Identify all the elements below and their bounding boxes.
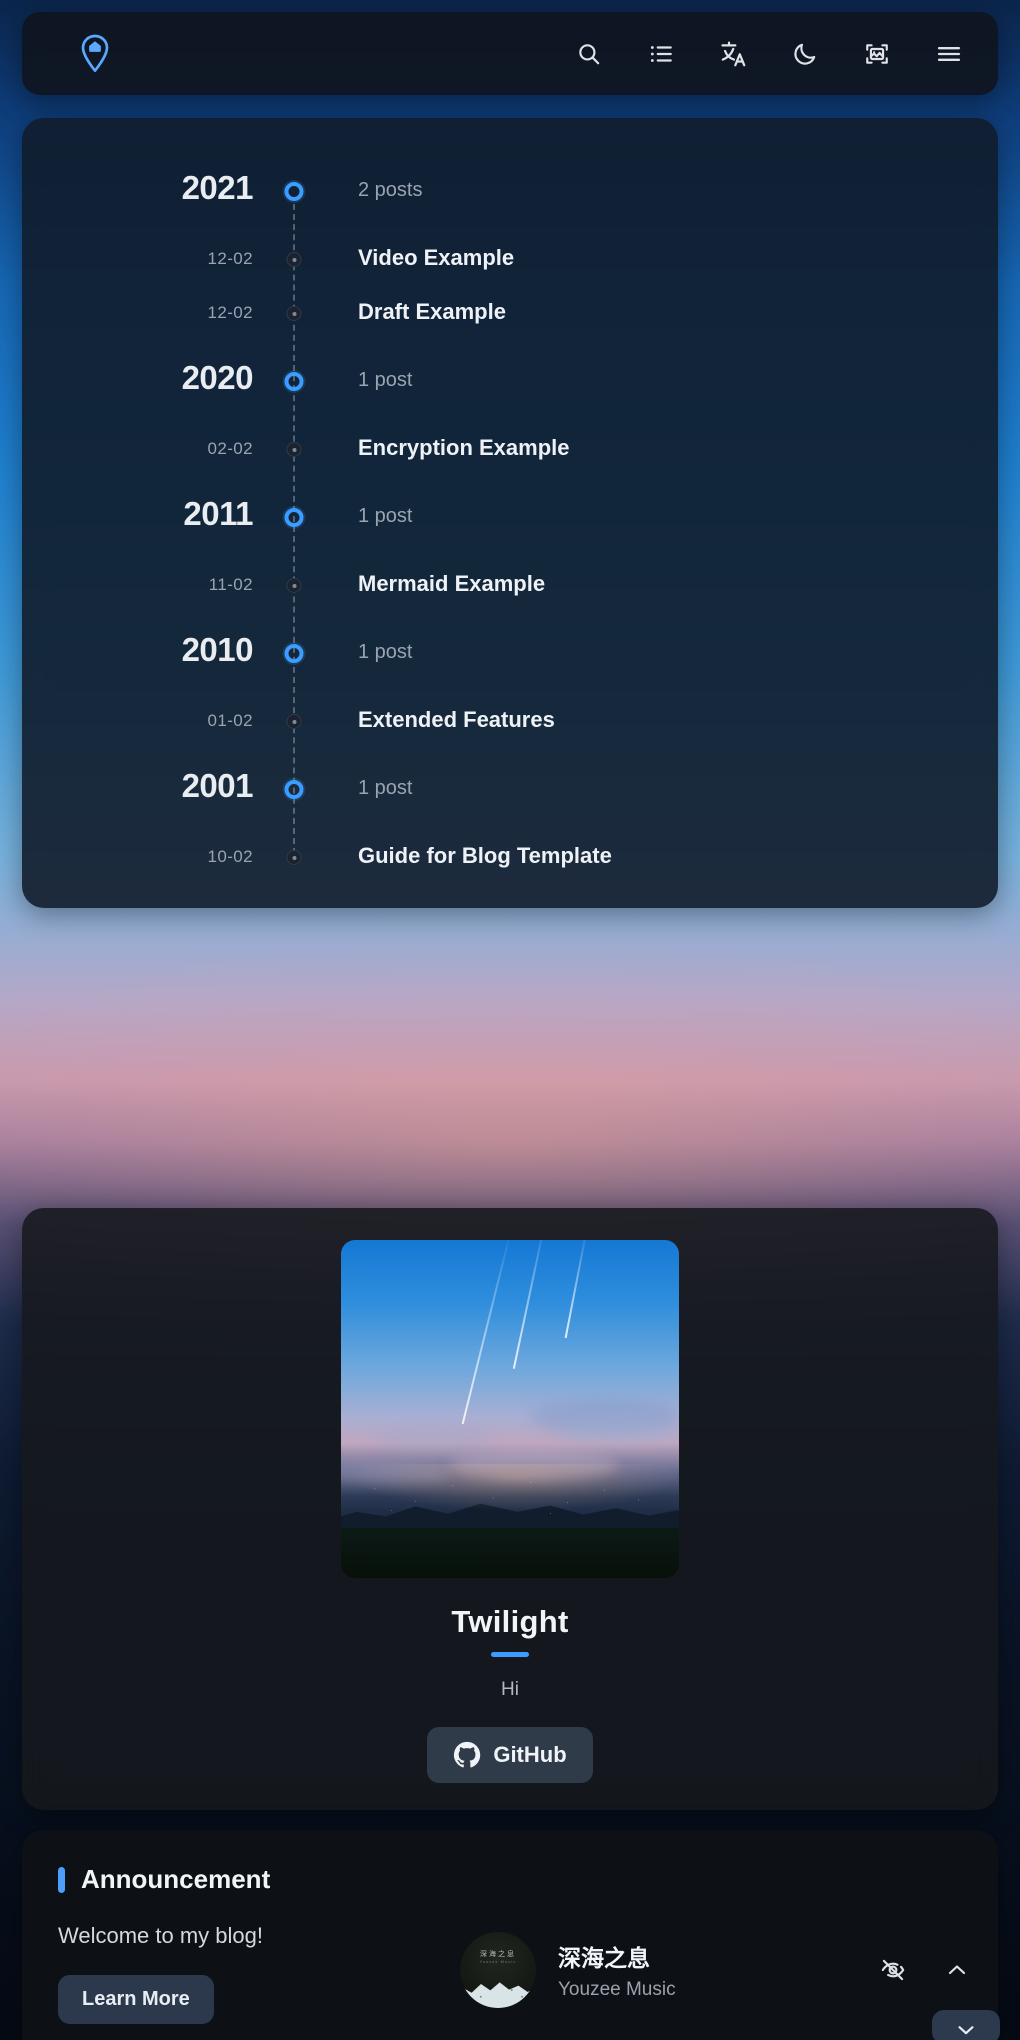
github-link-label: GitHub bbox=[493, 1742, 566, 1768]
profile-card: Twilight Hi GitHub bbox=[22, 1208, 998, 1810]
timeline-year-label: 2010 bbox=[182, 631, 253, 669]
timeline-post-title[interactable]: Video Example bbox=[358, 245, 514, 271]
timeline-post-title[interactable]: Encryption Example bbox=[358, 435, 570, 461]
timeline-year-count: 1 post bbox=[358, 777, 412, 800]
timeline-post-date: 11-02 bbox=[209, 575, 253, 595]
music-meta: 深海之息 Youzee Music bbox=[558, 1939, 856, 2001]
timeline: 20212 posts12-02Video Example12-02Draft … bbox=[22, 118, 998, 198]
avatar[interactable] bbox=[341, 1240, 679, 1578]
search-icon[interactable] bbox=[572, 37, 606, 71]
timeline-post-dot bbox=[287, 252, 302, 267]
music-track-title: 深海之息 bbox=[558, 1939, 856, 1973]
site-header bbox=[22, 12, 998, 95]
timeline-year-label: 2021 bbox=[182, 169, 253, 207]
chevron-down-icon bbox=[955, 2019, 977, 2040]
hamburger-icon[interactable] bbox=[932, 37, 966, 71]
timeline-post-title[interactable]: Draft Example bbox=[358, 299, 506, 325]
header-nav-icons bbox=[572, 37, 966, 71]
timeline-year-count: 1 post bbox=[358, 641, 412, 664]
music-controls bbox=[878, 1955, 972, 1985]
chevron-up-icon[interactable] bbox=[942, 1955, 972, 1985]
timeline-connector-line bbox=[293, 204, 295, 854]
timeline-post-dot bbox=[287, 306, 302, 321]
announcement-learn-more-button[interactable]: Learn More bbox=[58, 1975, 214, 2024]
timeline-year-count: 1 post bbox=[358, 369, 412, 392]
timeline-post-dot bbox=[287, 850, 302, 865]
timeline-post-title[interactable]: Guide for Blog Template bbox=[358, 843, 612, 869]
music-cover-subtitle: Youzee Music bbox=[460, 1960, 536, 1964]
announcement-accent-bar bbox=[58, 1867, 65, 1893]
github-icon bbox=[453, 1741, 481, 1769]
music-cover-art[interactable]: 深海之息 Youzee Music bbox=[460, 1932, 536, 2008]
announcement-title-row: Announcement bbox=[58, 1864, 962, 1895]
timeline-post-date: 10-02 bbox=[208, 847, 253, 867]
timeline-year-label: 2011 bbox=[183, 495, 253, 533]
toc-list-icon[interactable] bbox=[644, 37, 678, 71]
social-links: GitHub bbox=[427, 1727, 592, 1783]
profile-name: Twilight bbox=[451, 1604, 568, 1640]
timeline-post-dot bbox=[287, 578, 302, 593]
github-link-button[interactable]: GitHub bbox=[427, 1727, 592, 1783]
timeline-year-dot bbox=[285, 372, 304, 391]
timeline-year-label: 2020 bbox=[182, 359, 253, 397]
timeline-post-title[interactable]: Extended Features bbox=[358, 707, 555, 733]
eye-off-icon[interactable] bbox=[878, 1955, 908, 1985]
timeline-post-date: 02-02 bbox=[208, 439, 253, 459]
profile-bio: Hi bbox=[501, 1679, 519, 1701]
timeline-year-count: 1 post bbox=[358, 505, 412, 528]
archives-timeline-card: 20212 posts12-02Video Example12-02Draft … bbox=[22, 118, 998, 908]
timeline-year-dot bbox=[285, 644, 304, 663]
announcement-title: Announcement bbox=[81, 1864, 270, 1895]
timeline-post-date: 01-02 bbox=[208, 711, 253, 731]
music-cover-title: 深海之息 bbox=[460, 1949, 536, 1959]
timeline-post-date: 12-02 bbox=[208, 303, 253, 323]
moon-icon[interactable] bbox=[788, 37, 822, 71]
timeline-year-dot bbox=[285, 182, 304, 201]
scroll-to-bottom-button[interactable] bbox=[932, 2010, 1000, 2040]
timeline-post-date: 12-02 bbox=[208, 249, 253, 269]
timeline-year-dot bbox=[285, 508, 304, 527]
timeline-post-dot bbox=[287, 442, 302, 457]
music-player: 深海之息 Youzee Music 深海之息 Youzee Music bbox=[440, 1900, 998, 2040]
timeline-post-title[interactable]: Mermaid Example bbox=[358, 571, 545, 597]
translate-icon[interactable] bbox=[716, 37, 750, 71]
timeline-year-label: 2001 bbox=[182, 767, 253, 805]
timeline-post-dot bbox=[287, 714, 302, 729]
timeline-year-count: 2 posts bbox=[358, 179, 422, 202]
music-track-artist: Youzee Music bbox=[558, 1979, 856, 2001]
profile-divider bbox=[491, 1652, 529, 1657]
timeline-year-dot bbox=[285, 780, 304, 799]
image-frame-icon[interactable] bbox=[860, 37, 894, 71]
music-cover-wave bbox=[460, 1972, 536, 2008]
home-pin-icon[interactable] bbox=[78, 34, 112, 74]
